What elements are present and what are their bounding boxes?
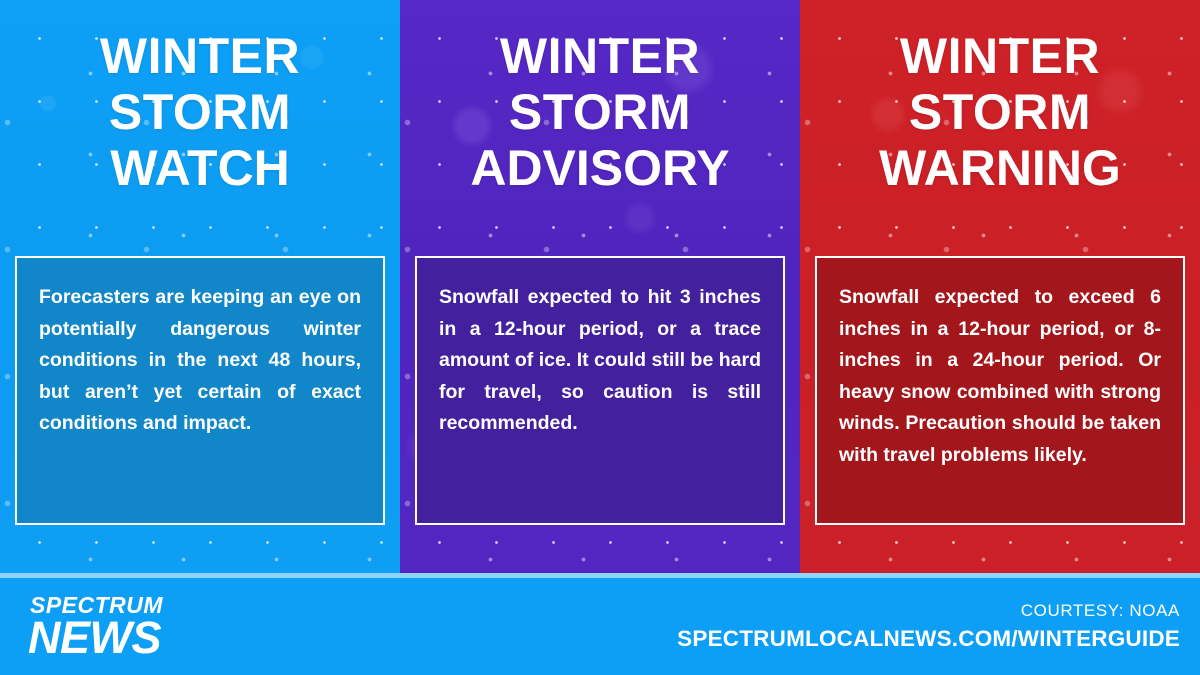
panel-title-watch: WINTER STORM WATCH [20,28,380,196]
winter-storm-infographic: WINTER STORM WATCH Forecasters are keepi… [0,0,1200,675]
panel-title-line: STORM [820,84,1180,140]
description-text-advisory: Snowfall expected to hit 3 inches in a 1… [439,282,761,440]
spectrum-news-logo: SPECTRUM NEWS [28,594,163,660]
panel-title-warning: WINTER STORM WARNING [820,28,1180,196]
panel-title-line: WINTER [420,28,780,84]
description-box-advisory: Snowfall expected to hit 3 inches in a 1… [415,256,785,525]
footer-bar: SPECTRUM NEWS COURTESY: NOAA SPECTRUMLOC… [0,578,1200,675]
description-box-watch: Forecasters are keeping an eye on potent… [15,256,385,525]
panel-title-line: WINTER [20,28,380,84]
panel-winter-storm-advisory: WINTER STORM ADVISORY Snowfall expected … [400,0,800,573]
footer-credits: COURTESY: NOAA SPECTRUMLOCALNEWS.COM/WIN… [677,601,1180,652]
panel-title-line: STORM [20,84,380,140]
panel-title-line: STORM [420,84,780,140]
courtesy-label: COURTESY: NOAA [1021,601,1180,621]
panel-title-line: WINTER [820,28,1180,84]
description-box-warning: Snowfall expected to exceed 6 inches in … [815,256,1185,525]
description-text-watch: Forecasters are keeping an eye on potent… [39,282,361,440]
panel-title-line: WATCH [20,140,380,196]
alert-panels: WINTER STORM WATCH Forecasters are keepi… [0,0,1200,573]
panel-title-line: WARNING [820,140,1180,196]
logo-news-text: NEWS [28,615,163,660]
panel-title-advisory: WINTER STORM ADVISORY [420,28,780,196]
footer-url: SPECTRUMLOCALNEWS.COM/WINTERGUIDE [677,626,1180,652]
panel-title-line: ADVISORY [420,140,780,196]
panel-winter-storm-watch: WINTER STORM WATCH Forecasters are keepi… [0,0,400,573]
panel-winter-storm-warning: WINTER STORM WARNING Snowfall expected t… [800,0,1200,573]
description-text-warning: Snowfall expected to exceed 6 inches in … [839,282,1161,471]
